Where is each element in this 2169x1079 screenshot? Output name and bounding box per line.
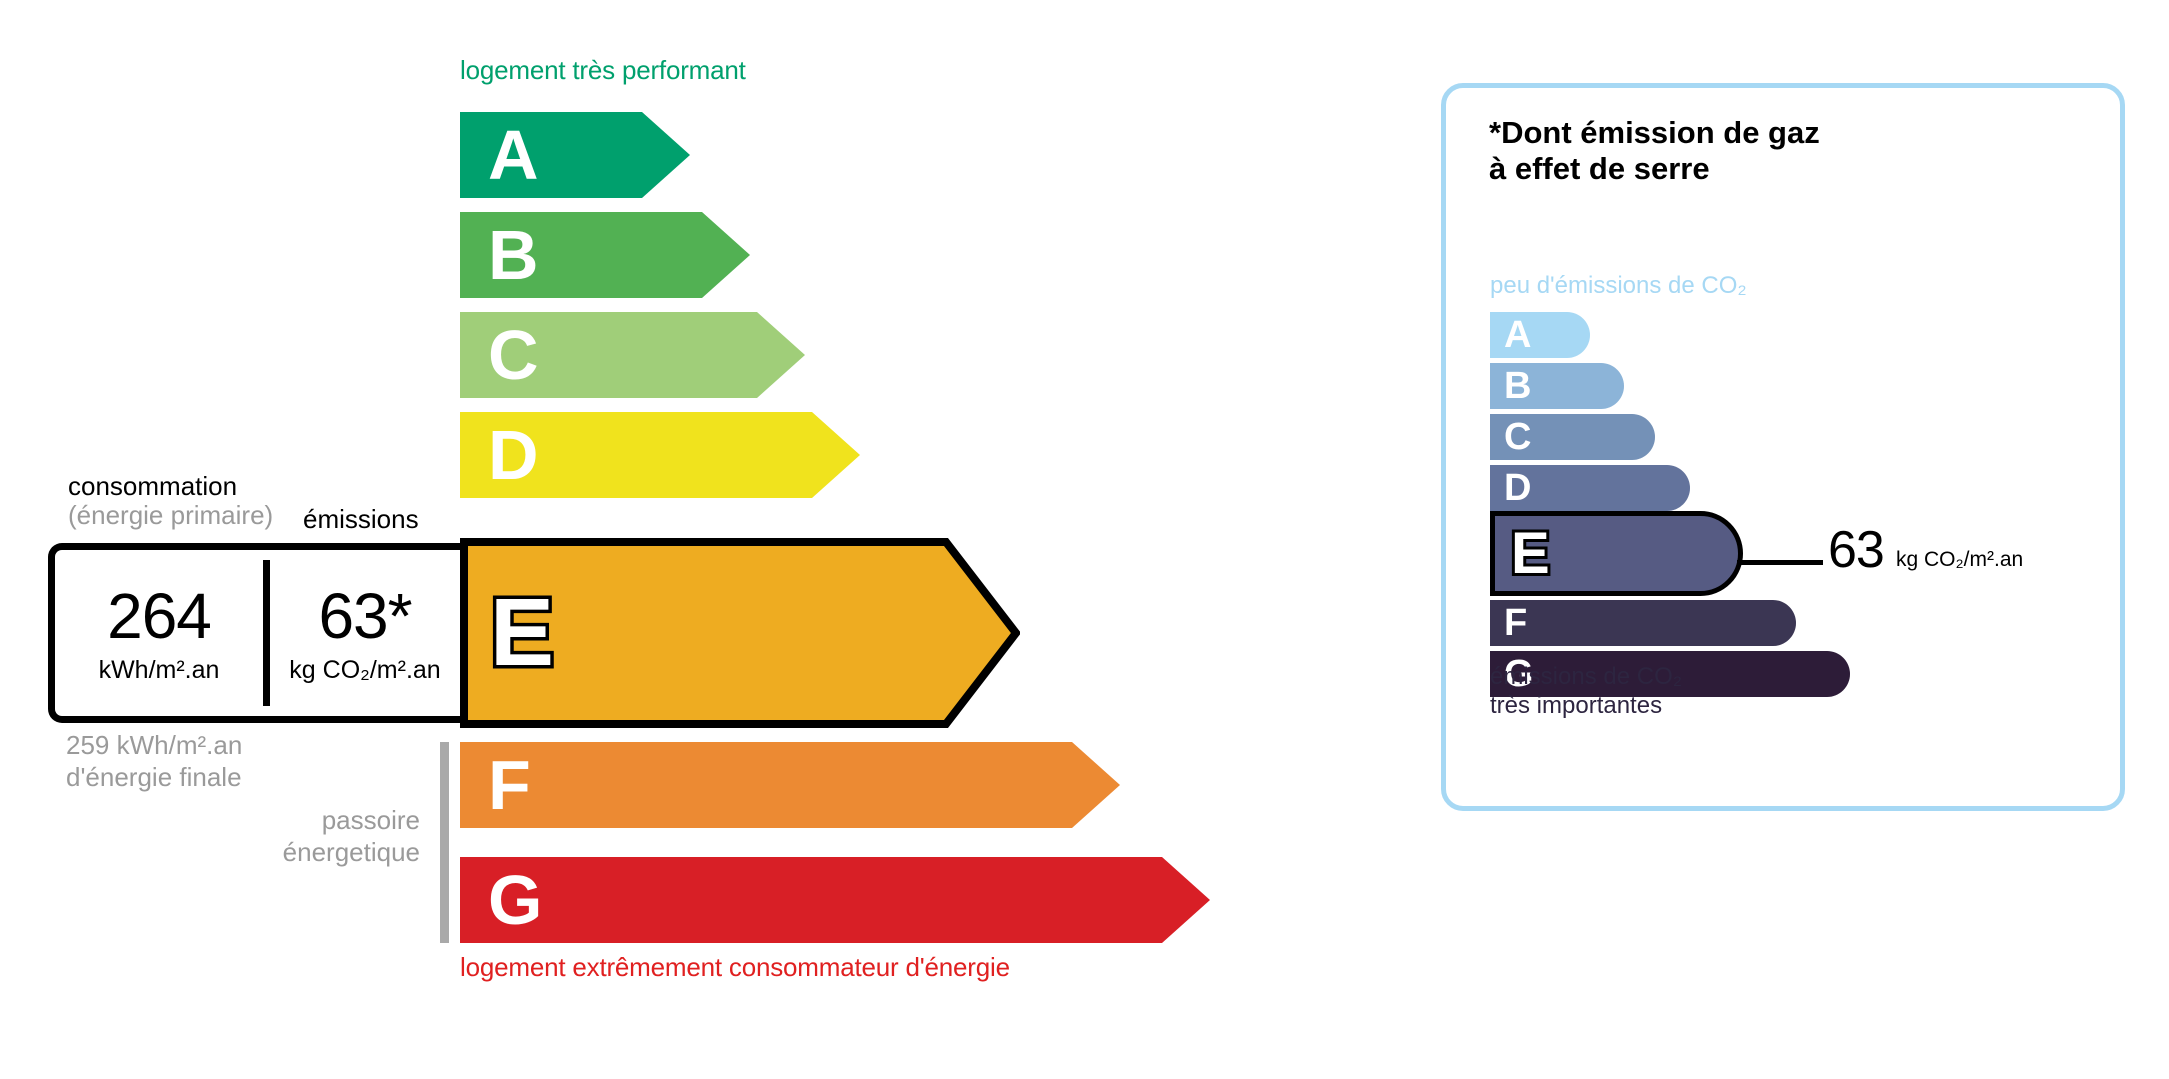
co2-bottom-caption-line-1: émissions de CO₂ — [1490, 663, 1682, 692]
co2-emissions-panel: *Dont émission de gaz à effet de serre p… — [1441, 83, 2125, 811]
consumption-header: consommation (énergie primaire) — [68, 472, 273, 530]
energy-bar-f: F — [460, 742, 1120, 828]
energy-performance-diagram: logement très performant A B C D — [0, 0, 1400, 1079]
co2-bar-f: F — [1490, 600, 1796, 646]
value-box-divider — [263, 560, 270, 706]
energy-bar-letter-a: A — [488, 120, 539, 190]
passoire-line-2: énergetique — [180, 837, 420, 869]
energy-top-caption: logement très performant — [460, 55, 746, 86]
co2-top-caption: peu d'émissions de CO₂ — [1490, 272, 1747, 300]
co2-bar-e-selected: E — [1490, 511, 1743, 596]
arrow-tip-a — [642, 112, 690, 198]
co2-callout-unit: kg CO₂/m².an — [1896, 549, 2023, 570]
energy-bar-letter-c: C — [488, 320, 539, 390]
final-energy-value: 259 kWh/m².an — [66, 730, 242, 762]
co2-bar-a: A — [1490, 312, 1590, 358]
arrow-body-f — [460, 742, 1072, 828]
arrow-tip-b — [702, 212, 750, 298]
primary-energy-value-cell: 264 kWh/m².an — [55, 550, 263, 716]
passoire-energetique-marker — [440, 742, 449, 943]
passoire-line-1: passoire — [180, 805, 420, 837]
consumption-header-sub: (énergie primaire) — [68, 501, 273, 530]
co2-bar-c: C — [1490, 414, 1655, 460]
energy-bar-g: G — [460, 857, 1210, 943]
energy-bar-letter-g: G — [488, 865, 542, 935]
energy-bottom-caption: logement extrêmement consommateur d'éner… — [460, 952, 1010, 983]
final-energy-label: d'énergie finale — [66, 762, 242, 794]
energy-bar-a: A — [460, 112, 690, 198]
co2-bar-letter-a: A — [1504, 316, 1531, 354]
co2-value-cell: 63* kg CO₂/m².an — [270, 550, 460, 716]
co2-bar-d: D — [1490, 465, 1690, 511]
energy-value-box: 264 kWh/m².an 63* kg CO₂/m².an — [48, 543, 460, 723]
co2-bar-b: B — [1490, 363, 1624, 409]
co2-bottom-caption-line-2: très importantes — [1490, 692, 1682, 721]
arrow-tip-f — [1072, 742, 1120, 828]
co2-bar-letter-e: E — [1511, 525, 1550, 583]
co2-bar-letter-f: F — [1504, 604, 1527, 642]
energy-bar-letter-e: E — [490, 585, 554, 681]
arrow-shape-g — [460, 857, 1210, 943]
energy-bar-letter-f: F — [488, 750, 531, 820]
energy-bar-e-selected: E — [460, 538, 1020, 728]
co2-bar-letter-c: C — [1504, 418, 1531, 456]
arrow-shape-f — [460, 742, 1120, 828]
passoire-energetique-label: passoire énergetique — [180, 805, 420, 868]
co2-callout-leader-line — [1737, 560, 1823, 565]
arrow-body-g — [460, 857, 1162, 943]
co2-bar-letter-d: D — [1504, 469, 1531, 507]
energy-bar-b: B — [460, 212, 750, 298]
co2-bottom-caption: émissions de CO₂ très importantes — [1490, 663, 1682, 721]
co2-value: 63* — [318, 584, 411, 648]
energy-bar-letter-b: B — [488, 220, 539, 290]
co2-unit: kg CO₂/m².an — [289, 658, 440, 683]
primary-energy-value: 264 — [107, 584, 211, 648]
co2-panel-title-line-2: à effet de serre — [1489, 151, 1820, 187]
arrow-tip-c — [757, 312, 805, 398]
co2-panel-title: *Dont émission de gaz à effet de serre — [1489, 115, 1820, 187]
emissions-header: émissions — [303, 505, 419, 534]
consumption-header-main: consommation — [68, 471, 237, 501]
co2-bar-letter-b: B — [1504, 367, 1531, 405]
energy-bar-letter-d: D — [488, 420, 539, 490]
energy-bar-c: C — [460, 312, 805, 398]
primary-energy-unit: kWh/m².an — [99, 658, 220, 683]
energy-bar-d: D — [460, 412, 860, 498]
arrow-tip-g — [1162, 857, 1210, 943]
co2-callout-value: 63 — [1828, 524, 1884, 576]
arrow-tip-d — [812, 412, 860, 498]
final-energy-note: 259 kWh/m².an d'énergie finale — [66, 730, 242, 793]
co2-panel-title-line-1: *Dont émission de gaz — [1489, 115, 1820, 151]
